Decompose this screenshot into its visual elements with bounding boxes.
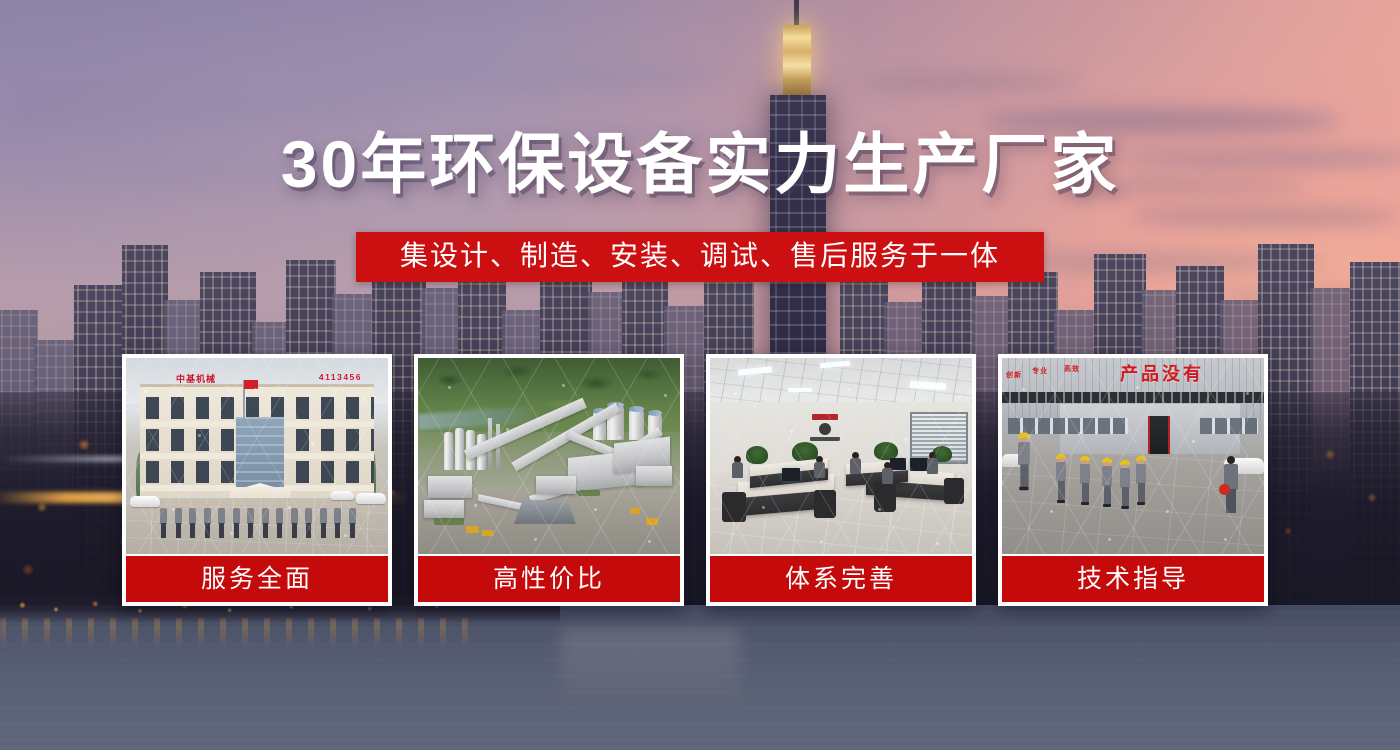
- feature-card[interactable]: 高性价比: [414, 354, 684, 606]
- company-phone-text: 4113456: [319, 372, 362, 382]
- card-caption: 服务全面: [126, 556, 388, 602]
- office-interior-photo: [710, 358, 972, 554]
- wall-logo-decal: [808, 414, 842, 444]
- feature-card[interactable]: 中基机械 4113456: [122, 354, 392, 606]
- supervisor-figure: [1224, 456, 1238, 518]
- card-caption: 高性价比: [418, 556, 680, 602]
- water-sheen: [560, 628, 740, 724]
- tower-antenna: [794, 0, 799, 25]
- card-caption: 体系完善: [710, 556, 972, 602]
- subtitle-banner: 集设计、制造、安装、调试、售后服务于一体: [356, 232, 1044, 282]
- promo-banner: 30年环保设备实力生产厂家 集设计、制造、安装、调试、售后服务于一体: [0, 0, 1400, 750]
- water-reflections: [0, 618, 470, 658]
- factory-slogan-1: 创新: [1006, 372, 1022, 381]
- technical-guidance-photo: 产品没有 创新 专业 高效: [1002, 358, 1264, 554]
- company-headquarters-photo: 中基机械 4113456: [126, 358, 388, 554]
- feature-card[interactable]: 体系完善: [706, 354, 976, 606]
- aerial-plant-photo: [418, 358, 680, 554]
- feature-card[interactable]: 产品没有 创新 专业 高效: [998, 354, 1268, 606]
- tower-lit-crown: [783, 25, 811, 95]
- subtitle-row: 集设计、制造、安装、调试、售后服务于一体: [0, 232, 1400, 282]
- factory-wall-text: 产品没有: [1120, 360, 1204, 386]
- staff-lineup: [160, 504, 356, 544]
- factory-slogan-3: 高效: [1064, 366, 1080, 375]
- card-caption: 技术指导: [1002, 556, 1264, 602]
- page-title: 30年环保设备实力生产厂家: [0, 131, 1400, 197]
- factory-door: [1148, 416, 1170, 458]
- red-helmet: [1219, 484, 1230, 495]
- company-sign-text: 中基机械: [176, 372, 216, 385]
- factory-slogan-2: 专业: [1032, 368, 1048, 377]
- feature-card-row: 中基机械 4113456: [122, 354, 1278, 606]
- national-flag: [244, 380, 258, 389]
